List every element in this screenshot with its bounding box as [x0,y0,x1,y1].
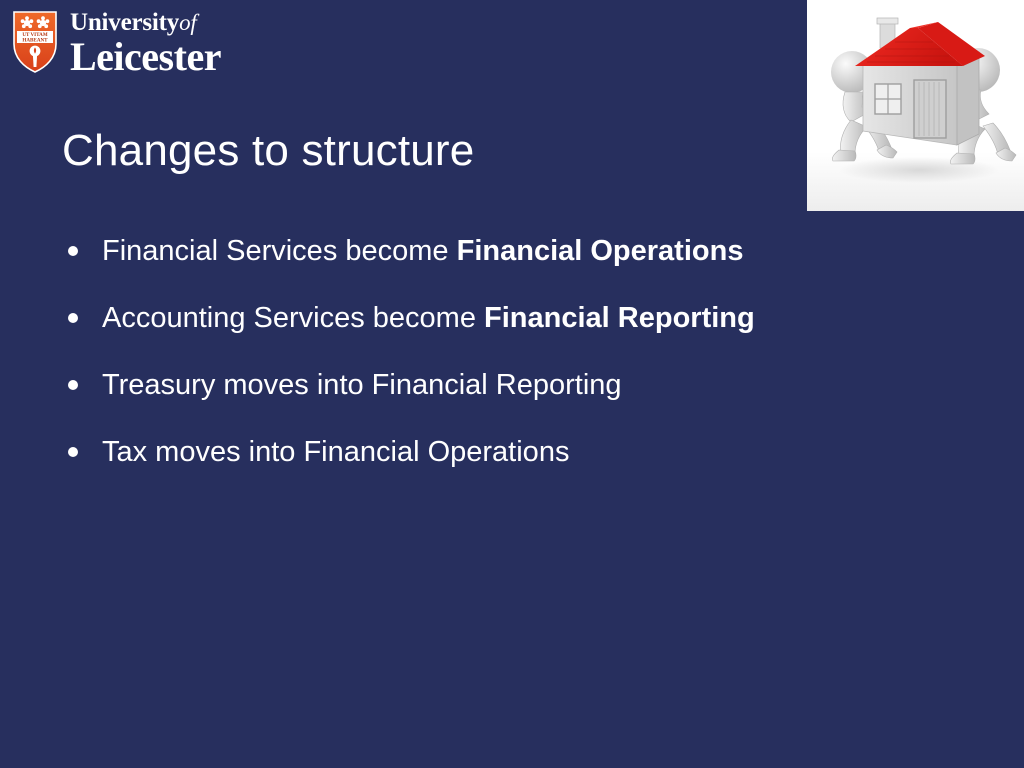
list-item: Accounting Services become Financial Rep… [60,295,960,362]
bullet-dot-icon [68,447,78,457]
bullet-text-plain: Accounting Services become [102,302,484,334]
bullet-text-plain: Financial Services become [102,235,457,267]
logo-of-text: of [179,10,197,35]
bullet-text: Accounting Services become Financial Rep… [102,302,755,334]
bullet-text-emphasis: Financial Operations [457,235,744,267]
bullet-text: Treasury moves into Financial Reporting [102,369,622,401]
bullet-text: Tax moves into Financial Operations [102,436,569,468]
leicester-crest-icon: UT VITAM HABEANT [12,11,58,73]
movers-carrying-house-image [807,0,1024,211]
list-item: Financial Services become Financial Oper… [60,228,960,295]
presentation-slide: UT VITAM HABEANT Universityof Leicester [0,0,1024,768]
bullet-text-plain: Tax moves into Financial Operations [102,436,569,468]
logo-wordmark: Universityof Leicester [70,8,221,77]
logo-line-leicester: Leicester [70,37,221,77]
svg-text:HABEANT: HABEANT [22,38,48,44]
bullet-text-plain: Treasury moves into Financial Reporting [102,369,622,401]
bullet-text: Financial Services become Financial Oper… [102,235,743,267]
bullet-dot-icon [68,380,78,390]
bullet-dot-icon [68,246,78,256]
bullet-text-emphasis: Financial Reporting [484,302,755,334]
list-item: Tax moves into Financial Operations [60,429,960,496]
bullet-dot-icon [68,313,78,323]
bullet-list: Financial Services become Financial Oper… [60,228,960,496]
slide-title: Changes to structure [62,126,474,176]
logo-university-text: University [70,9,179,36]
logo-line-university: Universityof [70,10,221,35]
university-logo: UT VITAM HABEANT Universityof Leicester [12,8,221,77]
list-item: Treasury moves into Financial Reporting [60,362,960,429]
